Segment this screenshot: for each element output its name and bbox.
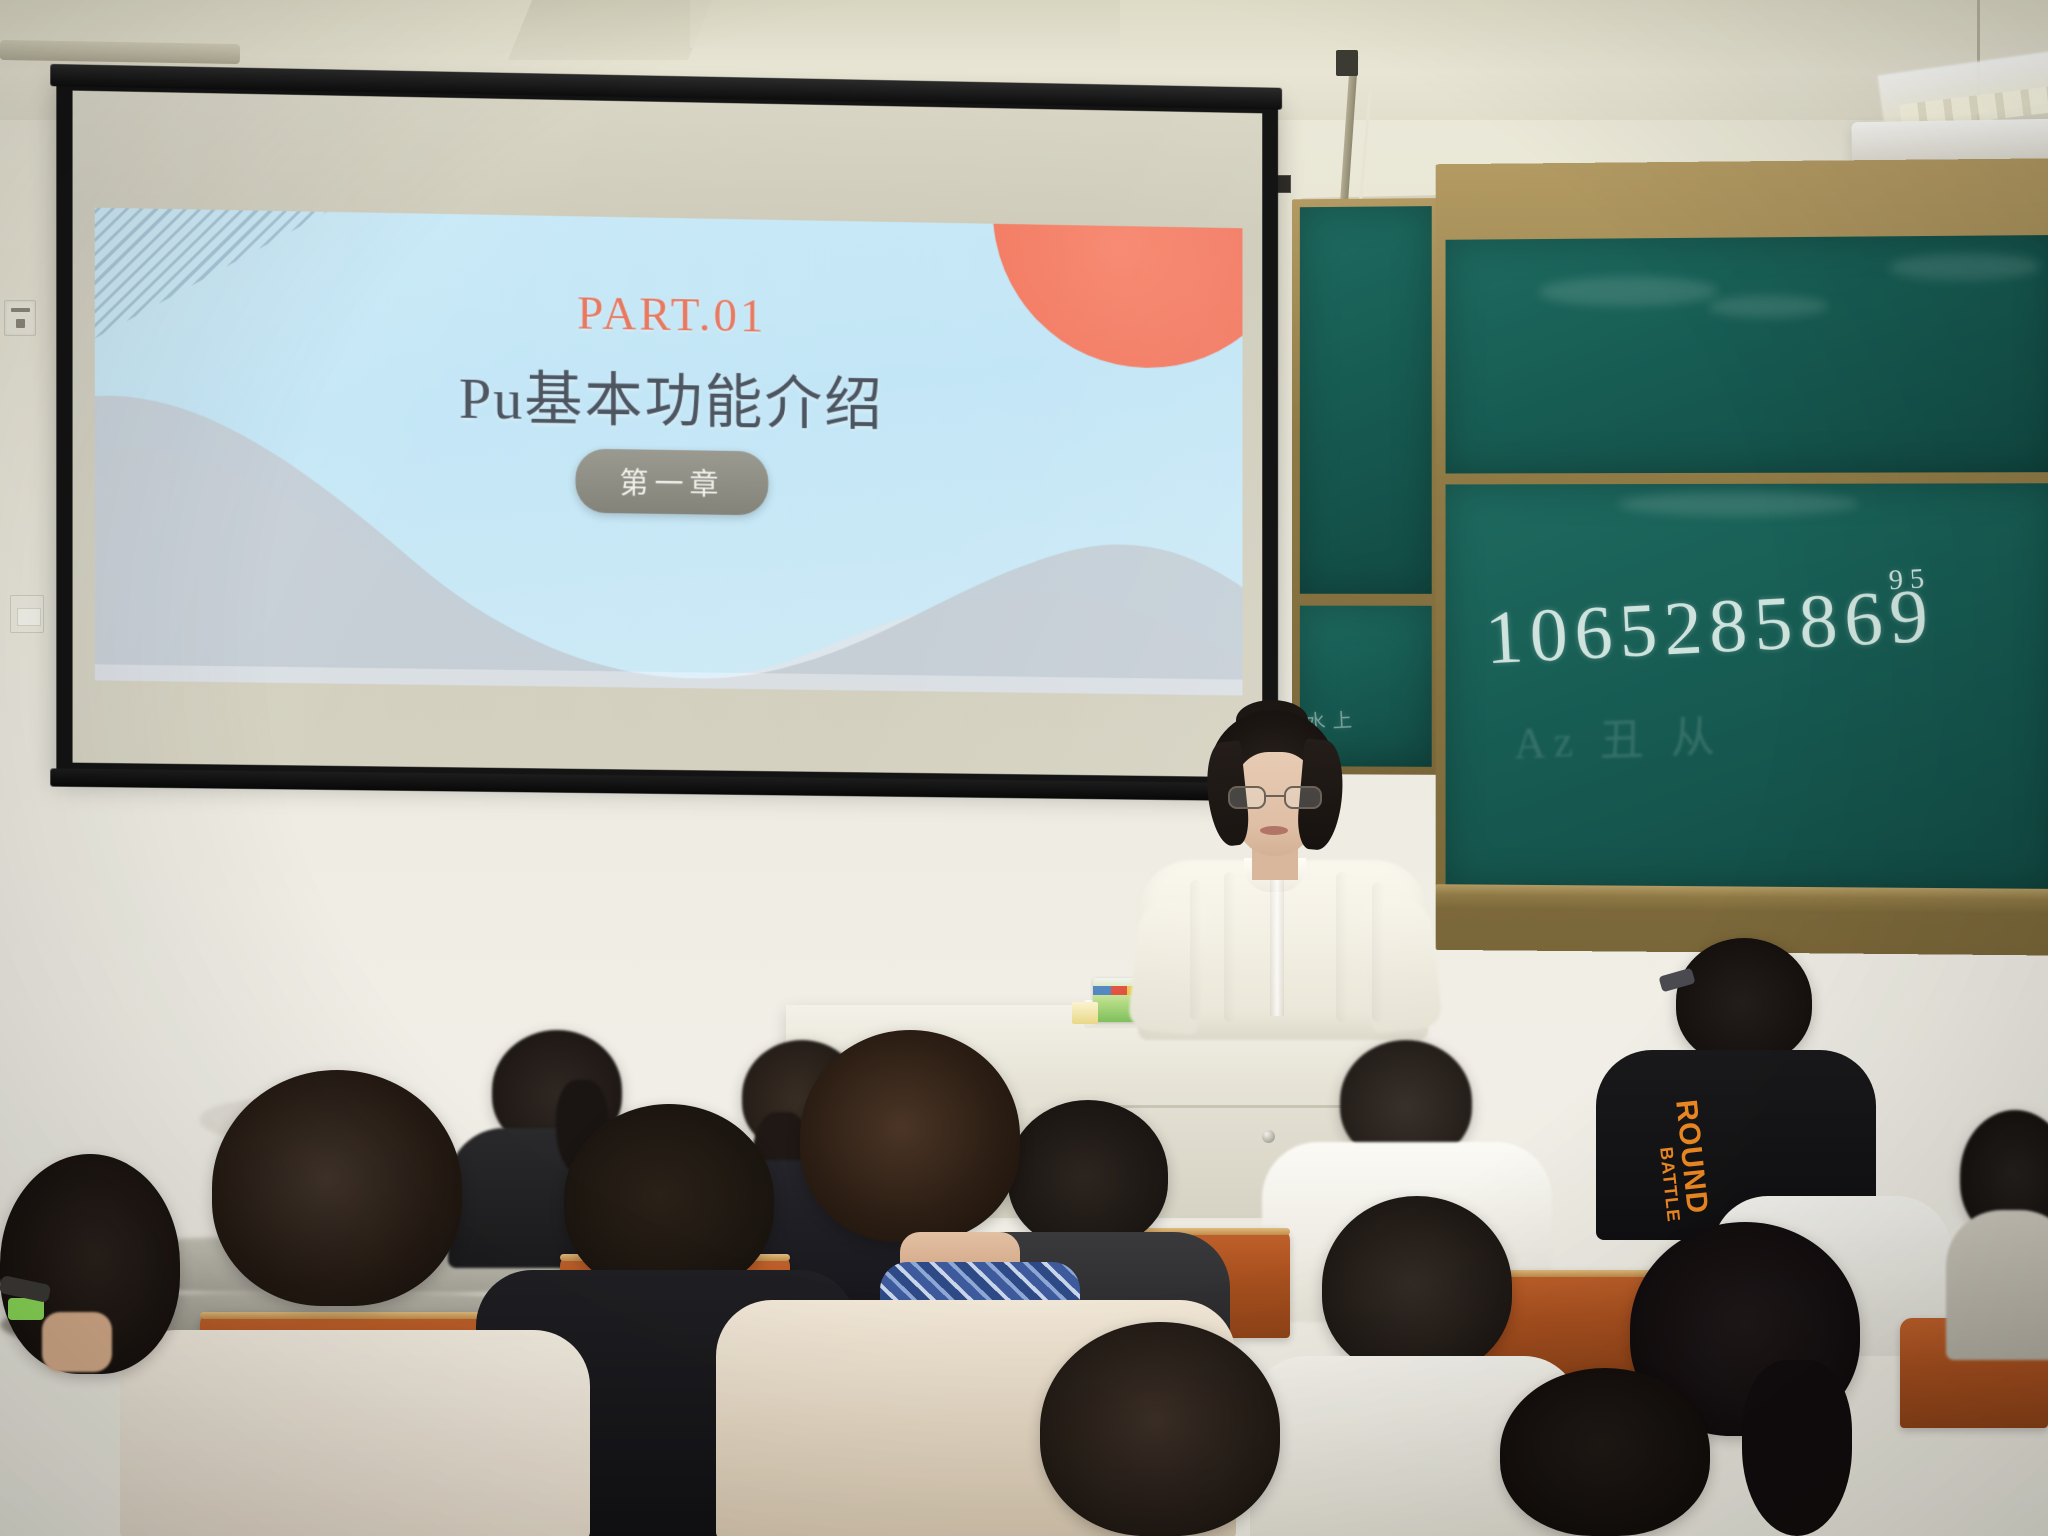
conduit-junction-box [1336, 50, 1358, 76]
presenter-mouth [1260, 826, 1288, 835]
seat-edge [200, 1312, 500, 1319]
blouse-fold-4 [1372, 882, 1384, 1022]
slide: PART.01 Pu基本功能介绍 第一章 [95, 208, 1243, 696]
hand [42, 1312, 112, 1372]
slide-title: Pu基本功能介绍 [95, 344, 1243, 446]
blouse-fold-3 [1336, 872, 1348, 1022]
glasses-lens-left [1228, 786, 1266, 809]
screen-surface: PART.01 Pu基本功能介绍 第一章 [73, 91, 1263, 778]
glasses-lens-right [1284, 786, 1322, 809]
list-item [800, 1030, 1020, 1242]
chalkboard-panel-right-bottom [1446, 483, 2048, 893]
list-item [1676, 938, 1812, 1064]
podium-drawer-knob[interactable] [1262, 1130, 1275, 1143]
blouse-fold-2 [1224, 872, 1236, 1022]
presenter-placket [1270, 866, 1284, 1016]
ceiling-seam [508, 0, 712, 60]
small-box[interactable] [1072, 1002, 1098, 1024]
list-item [212, 1070, 462, 1306]
chalkboard-panel-left-top [1300, 206, 1432, 594]
ceiling-seam-secondary [690, 0, 1120, 48]
classroom-photo: PART.01 Pu基本功能介绍 第一章 水上 1065285869 95 Az… [0, 0, 2048, 1536]
list-item [1946, 1210, 2048, 1360]
chalkboard-assembly: 水上 1065285869 95 Az 丑 从 [1292, 193, 2048, 940]
list-item [1500, 1368, 1710, 1536]
chalkboard-superscript: 95 [1888, 563, 1932, 597]
list-item [1742, 1360, 1852, 1536]
glasses-bridge [1266, 795, 1284, 797]
list-item [564, 1104, 774, 1294]
chalkboard-erased-writing: Az 丑 从 [1513, 701, 1724, 771]
list-item [120, 1330, 590, 1536]
list-item [1322, 1196, 1512, 1376]
wall-outlet[interactable] [4, 300, 36, 336]
light-switch[interactable] [10, 595, 44, 633]
list-item [1040, 1322, 1280, 1536]
ceiling-pipe-left [0, 40, 240, 64]
blouse-fold-1 [1190, 880, 1202, 1020]
projection-screen: PART.01 Pu基本功能介绍 第一章 [56, 72, 1278, 791]
list-item [1008, 1100, 1168, 1248]
chalk-tray [1436, 884, 2048, 915]
glasses-icon [1228, 786, 1324, 810]
slide-chapter-badge: 第一章 [575, 449, 768, 516]
